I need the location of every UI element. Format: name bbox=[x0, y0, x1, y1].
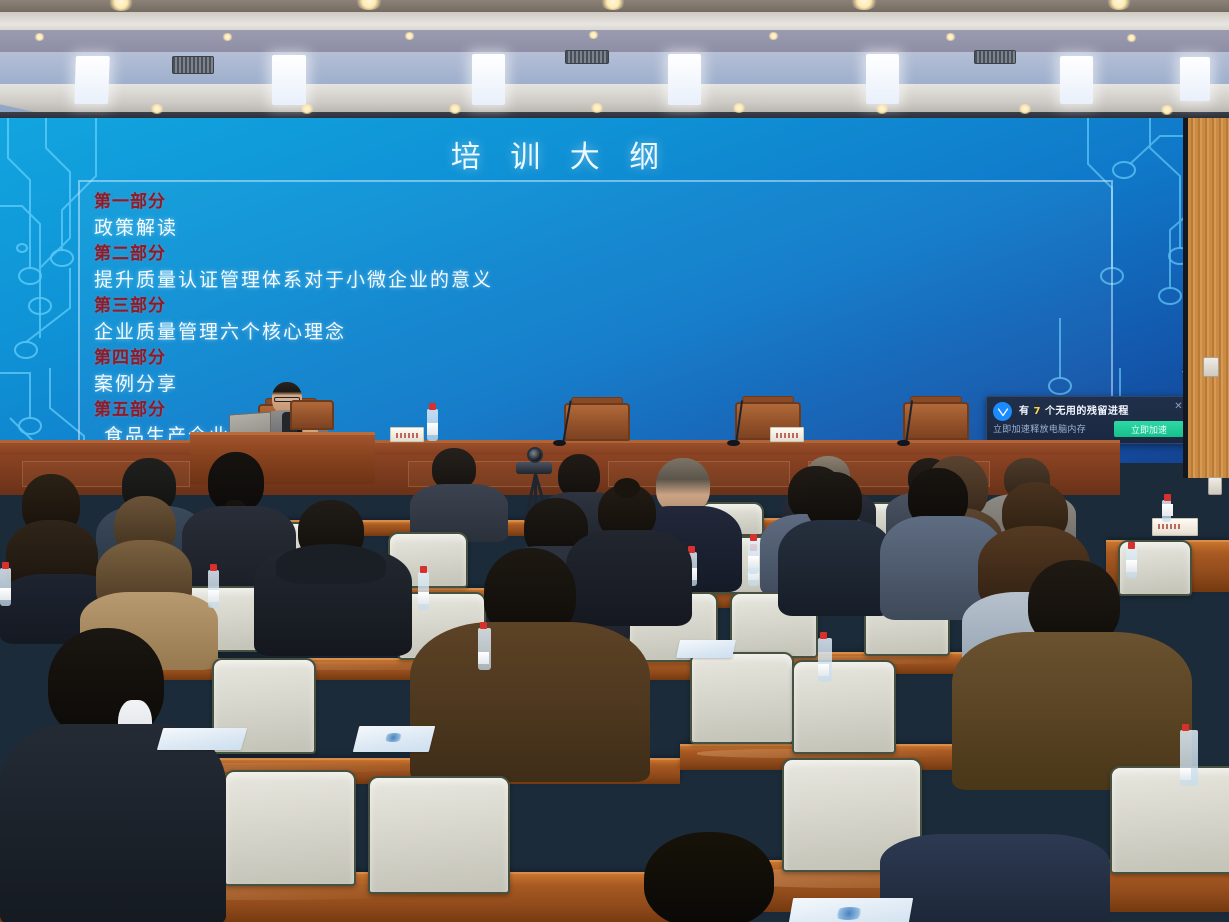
ceiling-air-vent bbox=[565, 50, 609, 64]
handout-logo bbox=[833, 907, 866, 919]
water-bottle bbox=[1180, 730, 1198, 786]
water-bottle bbox=[427, 409, 438, 441]
popup-title: 有 7 个无用的残留进程 bbox=[1019, 402, 1149, 417]
popup-title-prefix: 有 bbox=[1019, 406, 1030, 417]
slide-section-body-3: 企业质量管理六个核心理念 bbox=[94, 319, 1111, 346]
ceiling-white-band bbox=[0, 12, 1229, 32]
handout-document bbox=[676, 640, 736, 658]
handout-document bbox=[787, 898, 913, 922]
slide-section-body-2: 提升质量认证管理体系对于小微企业的意义 bbox=[94, 267, 1111, 294]
ceiling-air-vent bbox=[172, 56, 214, 74]
ceiling-panel-light bbox=[272, 55, 306, 105]
attendee bbox=[254, 500, 414, 680]
ceiling-downlight bbox=[875, 104, 889, 114]
seat bbox=[224, 770, 356, 886]
attendee-body bbox=[0, 724, 226, 922]
attendee-body bbox=[410, 622, 650, 782]
ceiling-downlight bbox=[1018, 104, 1032, 114]
water-bottle bbox=[478, 628, 491, 670]
handout-document bbox=[353, 726, 435, 752]
ceiling-panel-light bbox=[74, 56, 110, 104]
water-bottle bbox=[818, 638, 832, 682]
ceiling-downlight bbox=[222, 33, 233, 41]
security-popup-notification[interactable]: 有 7 个无用的残留进程 立即加速释放电脑内存 立即加速 ✕ bbox=[986, 396, 1191, 444]
hoodie-hood bbox=[276, 544, 386, 584]
video-camera bbox=[516, 462, 552, 474]
water-bottle bbox=[748, 540, 759, 574]
camera-lens-icon bbox=[527, 447, 543, 463]
ceiling-downlight bbox=[588, 31, 599, 39]
head-table-chair bbox=[903, 402, 969, 440]
seat bbox=[368, 776, 510, 894]
presenter-chair bbox=[290, 400, 334, 430]
wood-slat-wall-right bbox=[1183, 118, 1229, 478]
slide-section-body-4: 案例分享 bbox=[94, 371, 1111, 398]
handout-document bbox=[157, 728, 247, 750]
slide-section-head-4: 第四部分 bbox=[94, 346, 1111, 371]
ceiling-panel-light bbox=[1180, 57, 1210, 101]
ceiling-downlight bbox=[34, 33, 45, 41]
head-table-chair bbox=[564, 403, 630, 441]
light-switch-plate[interactable] bbox=[1203, 357, 1219, 377]
ceiling-panel-light bbox=[472, 54, 505, 105]
attendee-head bbox=[644, 832, 774, 922]
ceiling-downlight bbox=[300, 104, 314, 114]
attendee bbox=[0, 628, 230, 922]
ceiling-downlight bbox=[768, 32, 779, 40]
slide-section-head-3: 第三部分 bbox=[94, 294, 1111, 319]
attendee-body bbox=[778, 520, 894, 616]
slide-title: 培 训 大 纲 bbox=[0, 132, 1120, 176]
ceiling-panel-light bbox=[668, 54, 701, 105]
water-bottle bbox=[0, 568, 11, 606]
popup-process-count: 7 bbox=[1033, 406, 1040, 417]
water-bottle bbox=[208, 570, 219, 608]
audience-area bbox=[0, 440, 1229, 922]
attendee bbox=[952, 560, 1192, 784]
bun-hair bbox=[614, 478, 640, 498]
seat bbox=[690, 652, 794, 744]
attendee bbox=[778, 472, 894, 632]
seat bbox=[1110, 766, 1229, 874]
slide-section-head-1: 第一部分 bbox=[94, 190, 1111, 215]
ceiling-downlight bbox=[945, 33, 956, 41]
slide-section-body-1: 政策解读 bbox=[94, 215, 1111, 242]
seminar-room-photo: 培 训 大 纲 第一部分 政策解读 第二部分 提升质量认证管理体系对于小微企业的… bbox=[0, 0, 1229, 922]
ceiling-downlight bbox=[150, 104, 164, 114]
attendee bbox=[410, 548, 650, 778]
ceiling-panel-light bbox=[1060, 56, 1093, 104]
ceiling-downlight bbox=[1126, 34, 1137, 42]
shield-icon bbox=[993, 402, 1012, 421]
ceiling-downlight bbox=[1160, 105, 1174, 115]
ceiling-downlight bbox=[732, 103, 746, 113]
ceiling-panel-light bbox=[866, 54, 899, 104]
attendee bbox=[880, 810, 1110, 922]
popup-title-suffix: 个无用的残留进程 bbox=[1045, 406, 1129, 417]
popup-subtitle: 立即加速释放电脑内存 bbox=[993, 422, 1133, 435]
slide-section-head-2: 第二部分 bbox=[94, 242, 1111, 267]
handout-logo bbox=[383, 733, 405, 742]
ceiling-air-vent bbox=[974, 50, 1016, 64]
popup-accelerate-button[interactable]: 立即加速 bbox=[1114, 421, 1184, 437]
ceiling-downlight bbox=[590, 103, 604, 113]
attendee-body bbox=[880, 834, 1110, 922]
seat bbox=[792, 660, 896, 754]
ceiling-downlight bbox=[448, 104, 462, 114]
ceiling-downlight bbox=[404, 32, 415, 40]
